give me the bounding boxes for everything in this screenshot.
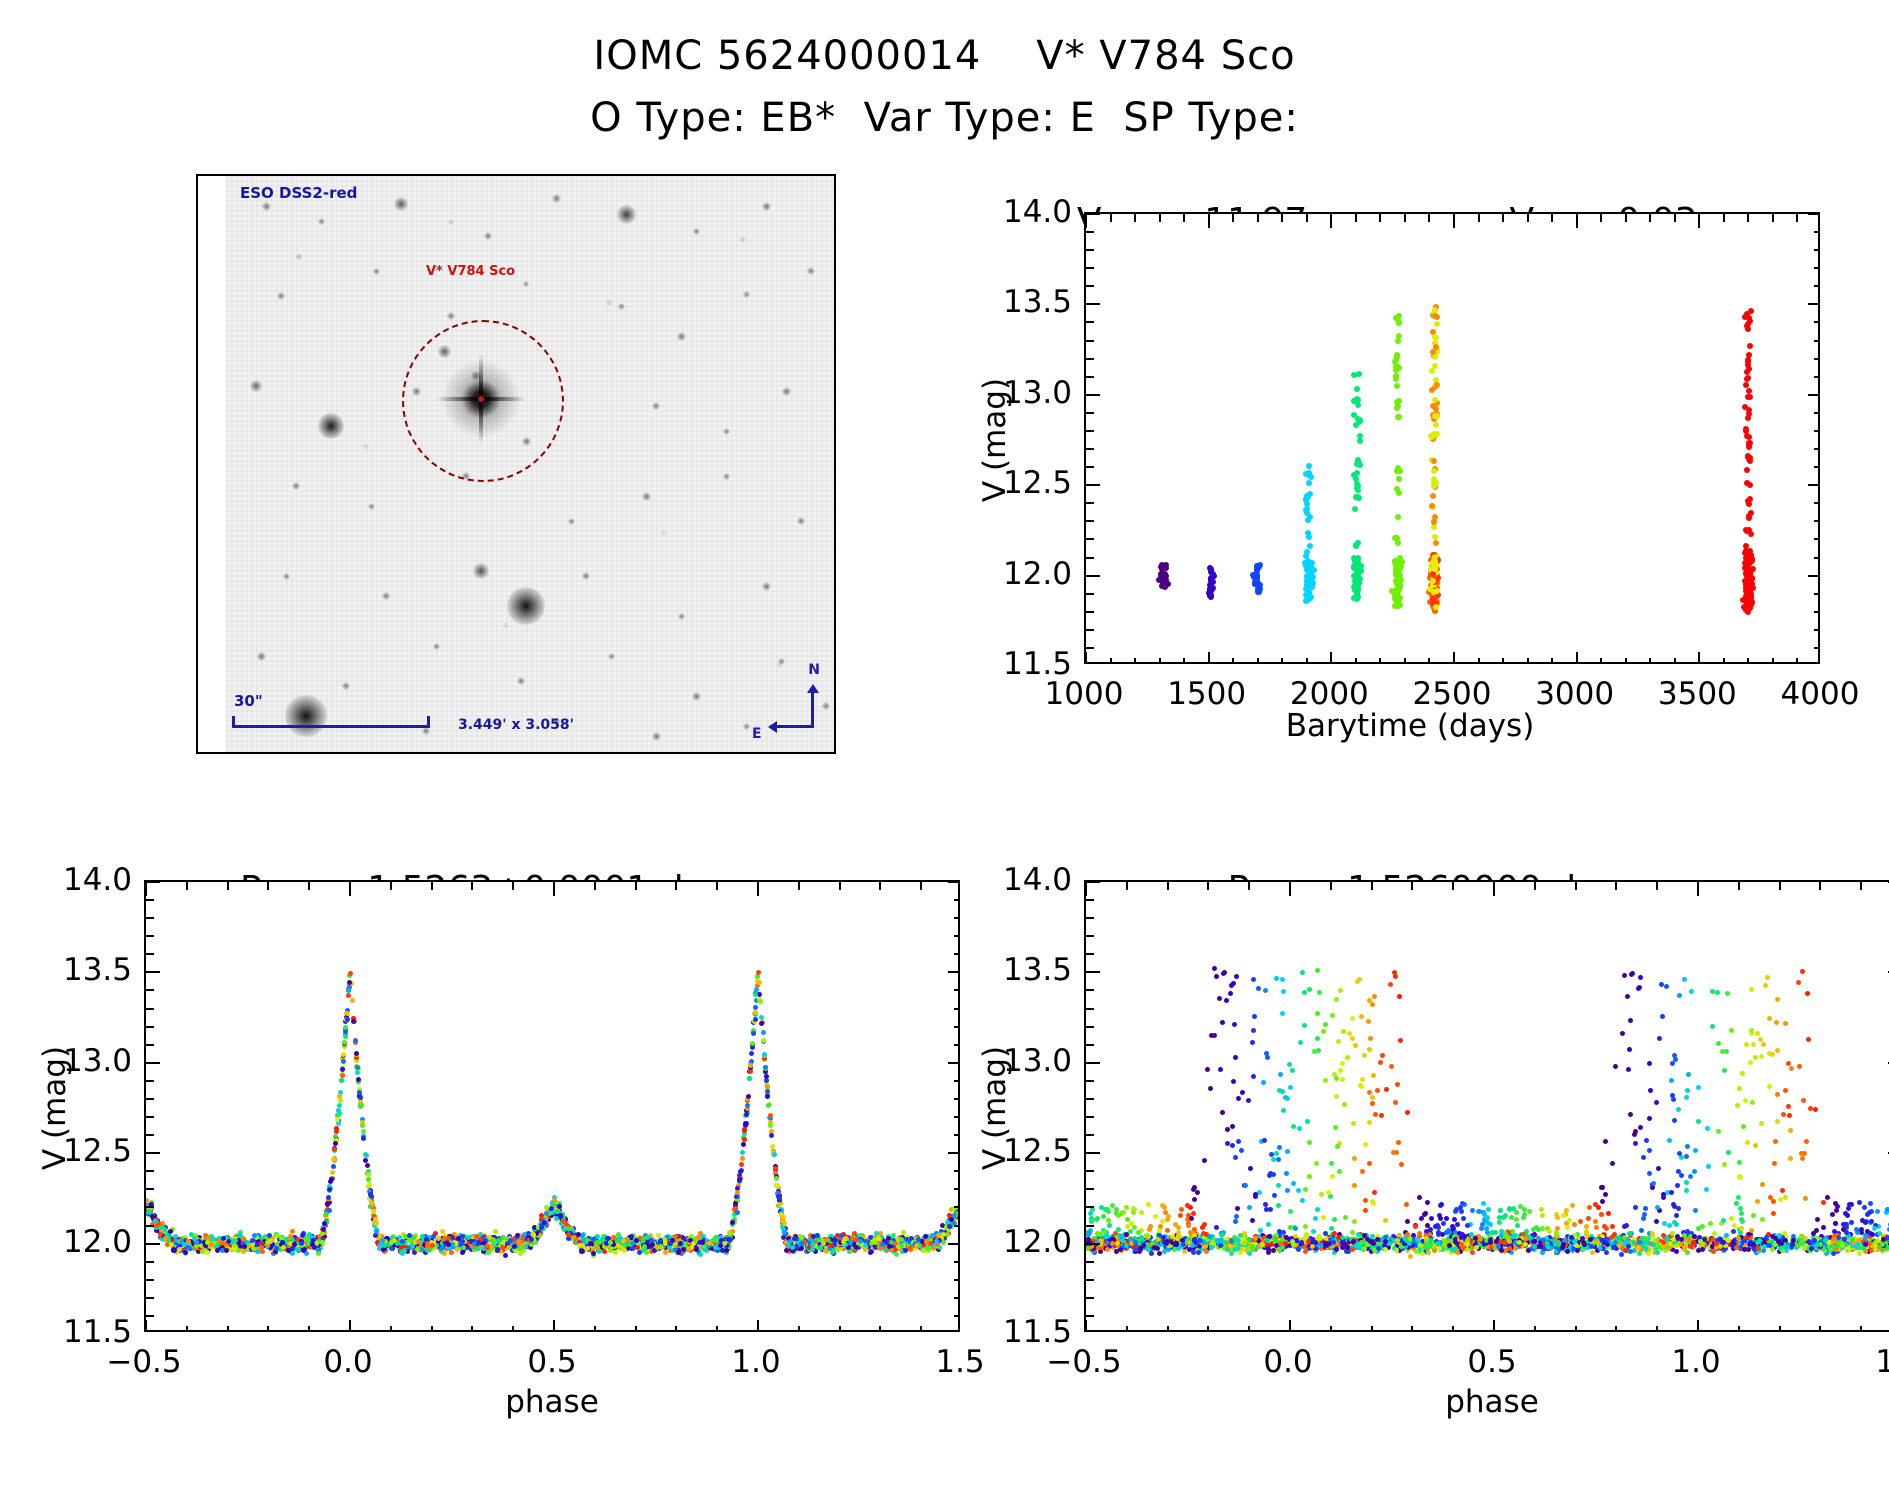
data-point	[337, 1103, 342, 1108]
y-tick-major	[1808, 213, 1820, 215]
data-point	[361, 1136, 366, 1141]
background-star	[342, 682, 350, 690]
x-tick-major	[1208, 214, 1210, 228]
data-point	[1432, 534, 1438, 540]
data-point	[698, 1252, 703, 1257]
data-point	[1333, 1125, 1338, 1130]
data-point	[1743, 543, 1749, 549]
data-point	[1619, 1252, 1624, 1257]
x-tick-major	[1085, 214, 1087, 228]
data-point	[1353, 422, 1359, 428]
data-point	[1394, 405, 1400, 411]
data-point	[658, 1238, 663, 1243]
data-point	[182, 1242, 187, 1247]
data-point	[770, 1144, 775, 1149]
background-star	[394, 197, 408, 211]
data-point	[1352, 1183, 1357, 1188]
data-point	[1370, 1095, 1375, 1100]
target-aperture-circle	[402, 320, 564, 482]
data-point	[655, 1245, 660, 1250]
data-point	[350, 998, 355, 1003]
y-tick-minor	[1086, 647, 1094, 649]
x-tick-minor	[1257, 658, 1259, 664]
data-point	[1336, 1039, 1341, 1044]
x-tick-minor	[1379, 214, 1381, 222]
data-point	[1355, 556, 1361, 562]
x-tick-label: 4000	[1781, 676, 1860, 712]
y-tick-major	[146, 1243, 160, 1245]
data-point	[1258, 1228, 1263, 1233]
data-point	[1231, 1079, 1236, 1084]
finder-chart: ESO DSS2-red V* V784 Sco 30" 3.449' x 3.…	[196, 174, 836, 754]
data-point	[1748, 308, 1754, 314]
data-point	[622, 1248, 627, 1253]
data-point	[1747, 440, 1753, 446]
data-point	[458, 1242, 463, 1247]
x-tick-label: 1.0	[731, 1344, 780, 1380]
data-point	[1783, 1021, 1788, 1026]
data-point	[522, 1232, 527, 1237]
y-tick-major	[1086, 213, 1100, 215]
background-star	[617, 205, 636, 224]
target-name-label: V* V784 Sco	[426, 264, 515, 279]
data-point	[1332, 1217, 1337, 1222]
data-point	[330, 1170, 335, 1175]
data-point	[1355, 494, 1361, 500]
x-tick-minor	[1478, 658, 1480, 664]
background-star	[484, 232, 492, 240]
data-point	[1760, 1182, 1765, 1187]
data-point	[744, 1112, 749, 1117]
data-point	[1747, 343, 1753, 349]
background-star	[642, 492, 651, 501]
data-point	[747, 1076, 752, 1081]
x-tick-minor	[839, 882, 841, 890]
data-point	[389, 1240, 394, 1245]
x-tick-minor	[1527, 214, 1529, 222]
data-point	[1676, 1107, 1681, 1112]
data-point	[144, 1198, 149, 1203]
data-point	[894, 1252, 899, 1257]
data-layer-vsx	[1086, 882, 1889, 1330]
data-point	[694, 1247, 699, 1252]
data-point	[1146, 1202, 1151, 1207]
y-tick-label: 12.5	[1003, 465, 1072, 501]
x-tick-minor	[716, 882, 718, 890]
data-point	[1515, 1223, 1520, 1228]
background-star	[652, 402, 660, 410]
data-point	[558, 1214, 563, 1219]
data-point	[1370, 1101, 1375, 1106]
data-point	[1342, 1102, 1347, 1107]
x-tick-minor	[1649, 214, 1651, 222]
data-point	[1765, 975, 1770, 980]
background-star	[582, 572, 590, 580]
data-point	[1706, 1164, 1711, 1169]
y-tick-minor	[1086, 502, 1094, 504]
y-tick-label: 12.0	[63, 1224, 132, 1260]
data-point	[769, 1133, 774, 1138]
data-point	[1744, 467, 1750, 473]
data-point	[758, 999, 763, 1004]
data-point	[360, 1123, 365, 1128]
data-point	[275, 1233, 280, 1238]
x-tick-major	[553, 882, 555, 896]
background-star	[677, 332, 686, 341]
data-point	[602, 1249, 607, 1254]
x-tick-minor	[1723, 214, 1725, 222]
data-point	[1185, 1203, 1190, 1208]
data-point	[260, 1249, 265, 1254]
y-tick-minor	[146, 1261, 154, 1263]
data-point	[516, 1239, 521, 1244]
y-tick-minor	[146, 989, 154, 991]
data-point	[1214, 974, 1219, 979]
data-point	[1303, 471, 1309, 477]
data-point	[366, 1177, 371, 1182]
data-point	[1771, 1211, 1776, 1216]
data-point	[506, 1245, 511, 1250]
data-point	[1178, 1213, 1183, 1218]
y-tick-label: 13.5	[1003, 284, 1072, 320]
data-point	[1708, 1221, 1713, 1226]
data-point	[759, 1021, 764, 1026]
data-point	[1334, 1076, 1339, 1081]
data-point	[1821, 1200, 1826, 1205]
data-point	[1743, 527, 1749, 533]
data-point	[673, 1234, 678, 1239]
data-point	[1433, 540, 1439, 546]
data-point	[1393, 1100, 1398, 1105]
x-tick-minor	[431, 1326, 433, 1332]
data-point	[1252, 1014, 1257, 1019]
data-point	[1291, 1181, 1296, 1186]
data-point	[1744, 369, 1750, 375]
y-tick-minor	[146, 1008, 154, 1010]
y-tick-minor	[1086, 448, 1094, 450]
data-point	[338, 1098, 343, 1103]
x-tick-minor	[1404, 214, 1406, 222]
data-point	[1343, 1215, 1348, 1220]
data-point	[1378, 1060, 1383, 1065]
x-tick-minor	[1232, 658, 1234, 664]
data-point	[776, 1194, 781, 1199]
data-point	[1288, 1085, 1293, 1090]
data-point	[887, 1244, 892, 1249]
x-tick-minor	[186, 1326, 188, 1332]
y-tick-minor	[146, 917, 154, 919]
data-point	[1667, 1138, 1672, 1143]
data-point	[1233, 1055, 1238, 1060]
data-point	[1350, 1230, 1355, 1235]
data-point	[299, 1241, 304, 1246]
data-point	[764, 1078, 769, 1083]
background-star	[723, 428, 730, 435]
data-point	[327, 1187, 332, 1192]
y-tick-minor	[1814, 412, 1820, 414]
x-tick-major	[757, 1320, 759, 1332]
data-point	[327, 1208, 332, 1213]
y-tick-minor	[1814, 611, 1820, 613]
background-star	[250, 380, 262, 392]
data-point	[339, 1078, 344, 1083]
data-point	[1747, 482, 1753, 488]
background-star	[807, 267, 815, 275]
x-axis-label-omc: phase	[144, 1384, 960, 1420]
y-tick-major	[1808, 303, 1820, 305]
background-star	[368, 503, 375, 510]
data-point	[585, 1246, 590, 1251]
data-point	[762, 1052, 767, 1057]
y-tick-minor	[146, 1044, 154, 1046]
data-point	[1254, 568, 1260, 574]
data-point	[630, 1241, 635, 1246]
data-point	[858, 1239, 863, 1244]
background-star	[692, 692, 701, 701]
data-point	[1705, 1126, 1710, 1131]
data-point	[1755, 1199, 1760, 1204]
data-point	[1315, 1207, 1320, 1212]
y-tick-minor	[146, 953, 154, 955]
data-point	[1396, 1140, 1401, 1145]
data-point	[1431, 479, 1437, 485]
data-point	[1290, 1068, 1295, 1073]
y-tick-minor	[1814, 249, 1820, 251]
data-point	[1622, 973, 1627, 978]
data-point	[893, 1241, 898, 1246]
data-point	[1405, 1110, 1410, 1115]
data-point	[341, 1059, 346, 1064]
x-tick-minor	[1134, 214, 1136, 222]
data-point	[823, 1248, 828, 1253]
data-point	[923, 1234, 928, 1239]
survey-label: ESO DSS2-red	[240, 184, 357, 202]
data-point	[772, 1152, 777, 1157]
data-point	[1789, 1066, 1794, 1071]
data-point	[718, 1243, 723, 1248]
x-tick-minor	[1600, 214, 1602, 222]
y-tick-major	[146, 1152, 160, 1154]
data-point	[774, 1176, 779, 1181]
data-point	[644, 1250, 649, 1255]
data-point	[754, 987, 759, 992]
x-tick-minor	[308, 1326, 310, 1332]
data-point	[1759, 1121, 1764, 1126]
data-point	[753, 1010, 758, 1015]
data-point	[1396, 365, 1402, 371]
data-point	[1306, 480, 1312, 486]
data-point	[1821, 1225, 1826, 1230]
data-point	[1423, 1211, 1428, 1216]
y-tick-minor	[146, 1279, 154, 1281]
data-point	[753, 1017, 758, 1022]
x-tick-minor	[1502, 658, 1504, 664]
x-tick-minor	[594, 882, 596, 890]
background-star	[382, 592, 390, 600]
background-star	[762, 582, 771, 591]
data-point	[1288, 1209, 1293, 1214]
data-point	[1303, 507, 1309, 513]
data-point	[1297, 1126, 1302, 1131]
data-point	[320, 1240, 325, 1245]
y-tick-minor	[1814, 340, 1820, 342]
data-point	[1689, 989, 1694, 994]
data-point	[1674, 1213, 1679, 1218]
data-point	[637, 1250, 642, 1255]
data-point	[704, 1248, 709, 1253]
background-star	[277, 292, 285, 300]
data-point	[728, 1237, 733, 1242]
data-point	[1350, 1036, 1355, 1041]
x-tick-minor	[839, 1326, 841, 1332]
data-point	[1218, 1067, 1223, 1072]
y-tick-minor	[1814, 376, 1820, 378]
data-point	[446, 1236, 451, 1241]
x-tick-minor	[798, 882, 800, 890]
y-tick-minor	[1814, 358, 1820, 360]
data-point	[766, 1103, 771, 1108]
data-point	[1671, 1097, 1676, 1102]
data-point	[259, 1245, 264, 1250]
data-point	[331, 1164, 336, 1169]
y-tick-minor	[146, 1188, 154, 1190]
x-tick-minor	[1649, 658, 1651, 664]
data-point	[1657, 1036, 1662, 1041]
x-tick-major	[757, 882, 759, 896]
data-point	[700, 1240, 705, 1245]
x-tick-major	[349, 1320, 351, 1332]
data-point	[169, 1242, 174, 1247]
y-tick-minor	[1086, 321, 1094, 323]
data-point	[799, 1246, 804, 1251]
y-tick-minor	[1086, 267, 1094, 269]
y-tick-minor	[1086, 629, 1094, 631]
data-point	[1647, 1061, 1652, 1066]
data-point	[485, 1243, 490, 1248]
data-point	[1729, 1216, 1734, 1221]
y-tick-minor	[1814, 538, 1820, 540]
y-tick-minor	[146, 1206, 154, 1208]
x-tick-minor	[1625, 658, 1627, 664]
data-point	[159, 1225, 164, 1230]
data-point	[1355, 402, 1361, 408]
background-star	[433, 643, 440, 650]
y-tick-minor	[1814, 520, 1820, 522]
x-tick-minor	[1183, 214, 1185, 222]
data-point	[713, 1238, 718, 1243]
data-point	[1647, 1171, 1652, 1176]
data-point	[1304, 549, 1310, 555]
data-point	[1396, 333, 1402, 339]
data-point	[1296, 1188, 1301, 1193]
data-point	[1394, 383, 1400, 389]
data-point	[941, 1232, 946, 1237]
data-point	[1748, 510, 1754, 516]
x-tick-major	[1208, 652, 1210, 664]
compass-east-arrow-icon	[768, 721, 777, 733]
data-point	[1429, 368, 1435, 374]
y-tick-minor	[1086, 340, 1094, 342]
background-star	[782, 387, 791, 396]
data-point	[436, 1236, 441, 1241]
y-tick-label: 14.0	[1003, 194, 1072, 230]
data-point	[1830, 1212, 1835, 1217]
background-star	[373, 268, 380, 275]
y-tick-major	[146, 881, 160, 883]
data-point	[529, 1237, 534, 1242]
x-tick-minor	[1527, 658, 1529, 664]
y-tick-major	[1808, 484, 1820, 486]
data-point	[1674, 1222, 1679, 1227]
data-point	[512, 1244, 517, 1249]
x-tick-major	[1576, 214, 1578, 228]
data-point	[681, 1247, 686, 1252]
data-point	[1813, 1107, 1818, 1112]
plot-area-omc[interactable]	[144, 880, 960, 1332]
data-point	[1250, 1040, 1255, 1045]
data-point	[1470, 1250, 1475, 1255]
data-point	[1307, 514, 1313, 520]
background-star	[778, 658, 785, 665]
x-tick-minor	[594, 1326, 596, 1332]
data-point	[1396, 581, 1402, 587]
x-tick-minor	[227, 1326, 229, 1332]
background-star	[473, 563, 489, 579]
x-tick-minor	[1551, 658, 1553, 664]
data-point	[1696, 1085, 1701, 1090]
data-point	[1355, 586, 1361, 592]
panel-lightcurve-barytime: Vmed = 11.97 mag <err_V> = 0.03 mag 11.5…	[960, 160, 1860, 760]
y-tick-minor	[1814, 285, 1820, 287]
y-tick-minor	[146, 899, 154, 901]
data-point	[591, 1251, 596, 1256]
data-point	[1246, 1098, 1251, 1103]
data-point	[751, 1031, 756, 1036]
y-tick-minor	[146, 1170, 154, 1172]
data-point	[346, 993, 351, 998]
data-point	[1747, 455, 1753, 461]
data-point	[1514, 1217, 1519, 1222]
data-point	[355, 1070, 360, 1075]
x-tick-minor	[1257, 214, 1259, 222]
compass-north-line	[811, 688, 814, 728]
plot-area-vsx[interactable]	[1084, 880, 1889, 1332]
y-tick-major	[948, 971, 960, 973]
background-star	[517, 677, 525, 685]
data-point	[168, 1229, 173, 1234]
data-point	[1750, 1100, 1755, 1105]
data-point	[358, 1095, 363, 1100]
data-point	[1345, 1055, 1350, 1060]
data-point	[1280, 977, 1285, 982]
y-tick-minor	[146, 1080, 154, 1082]
x-tick-minor	[675, 1326, 677, 1332]
data-point	[1354, 596, 1360, 602]
data-layer-omc	[146, 882, 958, 1330]
field-of-view-label: 3.449' x 3.058'	[458, 717, 574, 733]
data-point	[1354, 485, 1360, 491]
data-point	[364, 1153, 369, 1158]
compass-rose: N E	[768, 676, 824, 738]
plot-area-barytime[interactable]	[1084, 212, 1820, 664]
finder-chart-image: ESO DSS2-red V* V784 Sco 30" 3.449' x 3.…	[226, 176, 834, 752]
data-point	[1394, 565, 1400, 571]
data-point	[765, 1089, 770, 1094]
compass-east-label: E	[752, 726, 762, 742]
data-point	[1600, 1199, 1605, 1204]
data-point	[761, 1030, 766, 1035]
y-tick-minor	[1814, 321, 1820, 323]
